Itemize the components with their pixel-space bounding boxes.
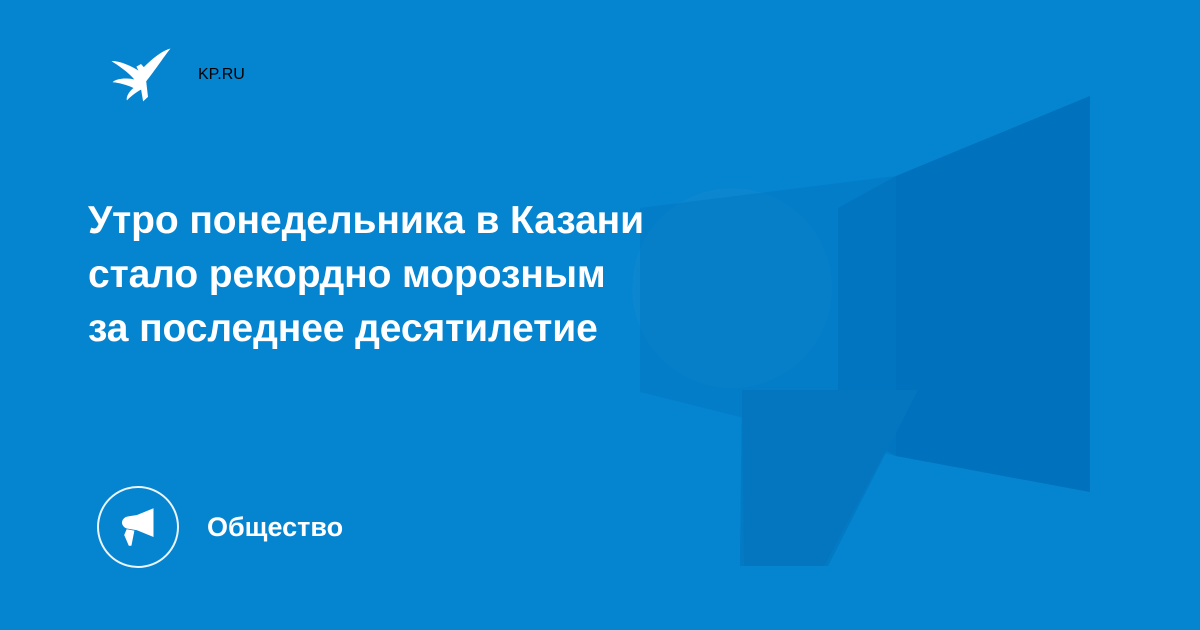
category-icon-ring: [97, 486, 179, 568]
category-label: Общество: [207, 514, 343, 541]
social-share-card: KP.RU Утро понедельника в Казани стало р…: [0, 0, 1200, 630]
category-badge[interactable]: Общество: [97, 486, 343, 568]
headline-line-2: стало рекордно морозным: [88, 248, 968, 302]
brand-name: KP.RU: [198, 66, 245, 84]
headline-line-3: за последнее десятилетие: [88, 302, 968, 356]
page-title: Утро понедельника в Казани стало рекордн…: [88, 194, 968, 356]
brand-header[interactable]: KP.RU: [108, 38, 245, 112]
megaphone-icon: [115, 504, 161, 550]
swallow-bird-logo-icon: [108, 41, 176, 109]
headline-line-1: Утро понедельника в Казани: [88, 194, 968, 248]
